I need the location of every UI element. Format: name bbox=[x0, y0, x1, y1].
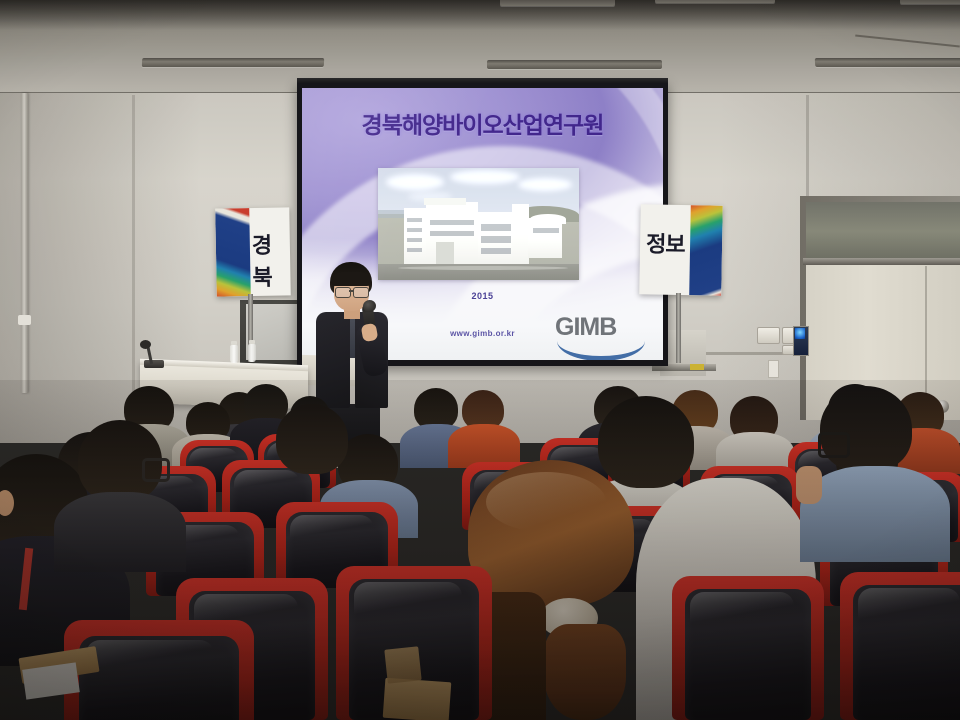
light-switch-icon[interactable] bbox=[757, 327, 780, 344]
slide-building-photo bbox=[378, 168, 579, 280]
audience-head bbox=[276, 404, 348, 474]
eyeglasses-icon bbox=[353, 287, 369, 298]
door-transom-window bbox=[806, 202, 960, 260]
ceiling-vent-icon bbox=[487, 60, 662, 69]
ceiling-vent-icon bbox=[500, 0, 615, 6]
seat bbox=[840, 572, 960, 720]
audience-hand bbox=[796, 466, 822, 504]
wall-conduit-pipe bbox=[21, 93, 28, 393]
ceiling-vent-icon bbox=[900, 0, 960, 4]
wall-panel-seam bbox=[132, 95, 135, 395]
folding-desk bbox=[383, 678, 452, 720]
microphone-icon bbox=[140, 340, 151, 349]
audience-head bbox=[820, 386, 912, 472]
handheld-microphone-head-icon bbox=[362, 299, 377, 313]
slide-logo-text: GIMB bbox=[555, 315, 651, 340]
access-panel-led-icon bbox=[795, 328, 805, 339]
water-bottle-cap bbox=[231, 341, 237, 345]
eyeglasses-icon bbox=[818, 432, 850, 458]
slide-logo: GIMB bbox=[555, 315, 651, 340]
photo-scene: 경북해양바이오산업연구원 bbox=[0, 0, 960, 720]
water-bottle bbox=[230, 345, 238, 363]
audience-head bbox=[598, 396, 694, 488]
slide-title: 경북해양바이오산업연구원 bbox=[302, 106, 663, 140]
eyeglasses-bridge bbox=[349, 290, 354, 292]
water-bottle-cap bbox=[249, 340, 255, 344]
foreground-person-hair-sheen bbox=[486, 472, 606, 532]
banner-ribbon-graphic bbox=[689, 205, 723, 296]
banner-ribbon-graphic bbox=[215, 208, 251, 297]
door-transom-rail bbox=[803, 258, 960, 265]
banner-pole-right bbox=[676, 293, 681, 363]
whiteboard-tape-marker bbox=[690, 364, 704, 370]
ceiling-vent-icon bbox=[655, 0, 775, 3]
presenter-hair-front bbox=[331, 272, 371, 286]
ceiling-shadow bbox=[0, 0, 960, 30]
water-bottle bbox=[248, 344, 256, 362]
folding-desk bbox=[384, 646, 421, 683]
ceiling-vent-icon bbox=[142, 58, 324, 67]
eyeglasses-icon bbox=[142, 458, 170, 482]
audience-shoulders bbox=[800, 466, 950, 562]
microphone-base bbox=[144, 360, 164, 368]
audience-shoulders bbox=[54, 492, 186, 572]
seat bbox=[672, 576, 824, 720]
ceiling-vent-icon bbox=[815, 58, 960, 67]
banner-right-label: 정보 bbox=[646, 226, 685, 259]
banner-left-label: 경북 bbox=[252, 227, 291, 292]
audience-area bbox=[0, 380, 960, 720]
foreground-person-ponytail bbox=[544, 624, 626, 720]
banner-stand-right: 정보 bbox=[639, 204, 723, 295]
conduit-clip bbox=[18, 315, 31, 325]
eyeglasses-icon bbox=[335, 287, 351, 298]
wall-outlet-plate bbox=[768, 360, 779, 378]
banner-stand-left: 경북 bbox=[215, 207, 291, 296]
